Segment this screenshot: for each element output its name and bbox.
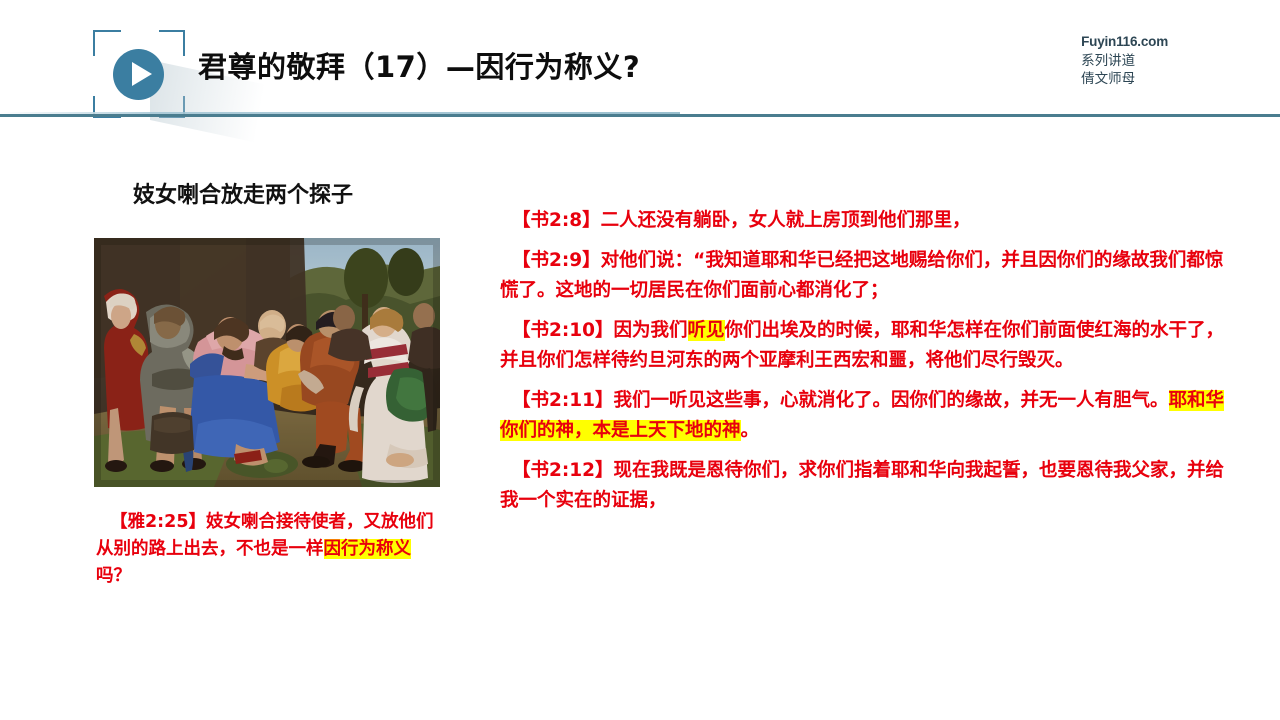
scripture-block: 【书2:8】二人还没有躺卧，女人就上房顶到他们那里，【书2:9】对他们说：“我知…: [500, 206, 1230, 516]
christ-and-the-adulteress-painting: [94, 238, 440, 487]
verse-paragraph: 【书2:11】我们一听见这些事，心就消化了。因你们的缘故，并无一人有胆气。耶和华…: [500, 386, 1230, 446]
verse-text: 。: [741, 420, 760, 441]
verse-paragraph: 【书2:10】因为我们听见你们出埃及的时候，耶和华怎样在你们前面使红海的水干了，…: [500, 316, 1230, 376]
verse-paragraph: 【书2:9】对他们说：“我知道耶和华已经把这地赐给你们，并且因你们的缘故我们都惊…: [500, 246, 1230, 306]
verse-text: 我们一听见这些事，心就消化了。因你们的缘故，并无一人有胆气。: [614, 390, 1169, 411]
page-title: 君尊的敬拜（17）—因行为称义?: [198, 44, 640, 86]
brand-series-label: 系列讲道: [1081, 52, 1168, 71]
verse-reference: 【书2:10】: [512, 320, 614, 341]
verse-reference: 【书2:12】: [512, 460, 614, 481]
header-divider: [0, 114, 1280, 117]
verse-reference: 【书2:9】: [512, 250, 601, 271]
brand-site: Fuyin116.com: [1081, 33, 1168, 52]
verse-text: 因为我们: [614, 320, 688, 341]
caption-text-2: 吗？: [96, 566, 131, 586]
caption-james-2-25: 【雅2:25】妓女喇合接待使者，又放他们从别的路上出去，不也是一样因行为称义吗？: [96, 509, 444, 590]
caption-ref: 【雅2:25】: [110, 512, 206, 532]
brand-block: Fuyin116.com 系列讲道 倩文师母: [1081, 33, 1168, 89]
verse-paragraph: 【书2:12】现在我既是恩待你们，求你们指着耶和华向我起誓，也要恩待我父家，并给…: [500, 456, 1230, 516]
caption-highlight: 因行为称义: [324, 539, 412, 559]
verse-reference: 【书2:8】: [512, 210, 601, 231]
section-heading: 妓女喇合放走两个探子: [133, 177, 353, 209]
play-circle-icon: [113, 49, 164, 100]
verse-text: 二人还没有躺卧，女人就上房顶到他们那里，: [601, 210, 971, 231]
verse-highlight: 听见: [688, 320, 725, 341]
slide-header: 君尊的敬拜（17）—因行为称义? Fuyin116.com 系列讲道 倩文师母: [0, 0, 1280, 130]
verse-text: 对他们说：“我知道耶和华已经把这地赐给你们，并且因你们的缘故我们都惊慌了。这地的…: [500, 250, 1223, 301]
verse-paragraph: 【书2:8】二人还没有躺卧，女人就上房顶到他们那里，: [500, 206, 1230, 236]
painting-artwork: [94, 238, 440, 487]
verse-reference: 【书2:11】: [512, 390, 614, 411]
brand-speaker-label: 倩文师母: [1081, 70, 1168, 89]
